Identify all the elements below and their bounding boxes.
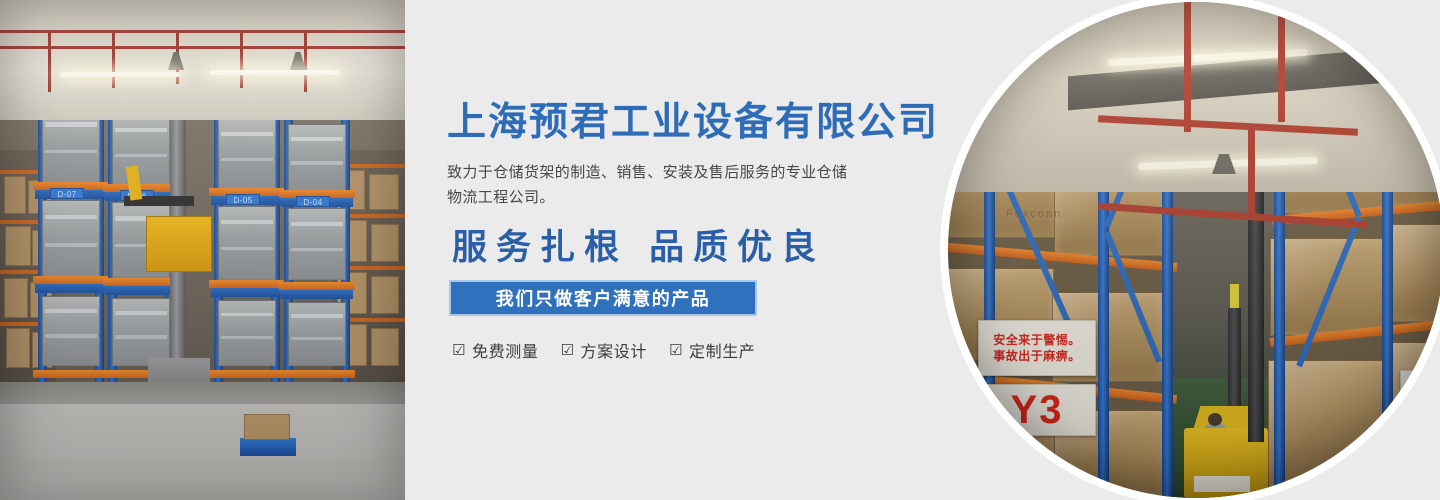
hero-banner: D-07 D-06 xyxy=(0,0,1440,500)
feature-item-custom-production: ☑ 定制生产 xyxy=(669,338,755,362)
forklift xyxy=(1184,308,1280,498)
rack-bay-1: D-07 xyxy=(38,104,104,404)
check-icon: ☑ xyxy=(452,343,466,358)
rack-bay-3: D-05 xyxy=(214,104,280,404)
feature-list: ☑ 免费测量 ☑ 方案设计 ☑ 定制生产 xyxy=(452,338,755,362)
check-icon: ☑ xyxy=(560,343,574,358)
rack-label: D-05 xyxy=(226,194,260,205)
safety-sign-line-1: 安全来于警惕。 xyxy=(993,334,1081,347)
rack-label: D-04 xyxy=(296,196,330,207)
carton-brand-label-4: Foxconn xyxy=(1006,208,1062,220)
company-title: 上海预君工业设备有限公司 xyxy=(447,100,939,146)
warehouse-ceiling xyxy=(0,0,405,120)
left-warehouse-photo: D-07 D-06 xyxy=(0,0,405,500)
rack-bay-4: D-04 xyxy=(284,104,350,404)
aisle-sign-y3-right: Y3 xyxy=(1400,370,1440,420)
aisle-sign-y3: Y3 xyxy=(978,384,1096,436)
safety-sign: 安全来于警惕。 事故出于麻痹。 xyxy=(978,320,1096,376)
right-photo-clip: Foxconn Foxconn Foxconn Foxconn xyxy=(948,2,1440,498)
cta-button[interactable]: 我们只做客户满意的产品 xyxy=(449,280,757,316)
feature-item-scheme-design: ☑ 方案设计 xyxy=(560,338,646,362)
text-panel: 上海预君工业设备有限公司 致力于仓储货架的制造、销售、安装及售后服务的专业仓储物… xyxy=(447,0,967,500)
feature-label: 定制生产 xyxy=(689,338,755,362)
company-slogan: 服务扎根 品质优良 xyxy=(452,226,825,270)
safety-sign-line-2: 事故出于麻痹。 xyxy=(993,350,1081,363)
aisle-sign-y3-text: Y3 xyxy=(1011,390,1064,430)
aisle-sign-y3-right-text: Y3 xyxy=(1422,375,1440,415)
check-icon: ☑ xyxy=(669,343,683,358)
company-subtitle: 致力于仓储货架的制造、销售、安装及售后服务的专业仓储物流工程公司。 xyxy=(447,160,859,210)
feature-item-free-measurement: ☑ 免费测量 xyxy=(452,338,538,362)
turret-truck xyxy=(150,104,208,404)
feature-label: 免费测量 xyxy=(472,338,538,362)
feature-label: 方案设计 xyxy=(581,338,647,362)
right-warehouse-ceiling xyxy=(948,2,1440,192)
carton-on-pallet xyxy=(244,414,290,440)
right-circular-photo: Foxconn Foxconn Foxconn Foxconn xyxy=(940,0,1440,500)
warehouse-floor xyxy=(0,382,405,500)
blue-pallet xyxy=(240,438,296,456)
rack-label: D-07 xyxy=(50,188,84,199)
